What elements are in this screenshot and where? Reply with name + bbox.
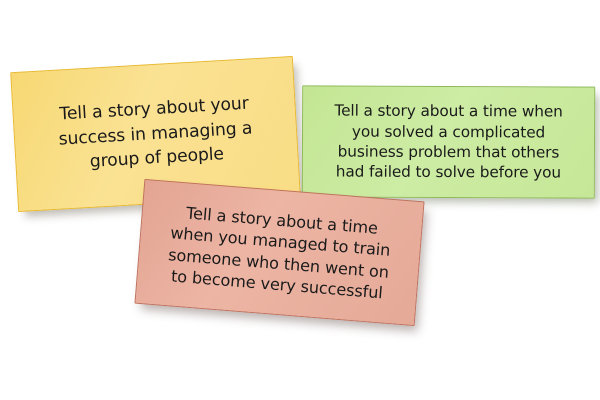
prompt-card-green-text: Tell a story about a time when you solve… [303,100,594,183]
card-stage: Tell a story about your success in manag… [0,0,600,400]
prompt-card-green[interactable]: Tell a story about a time when you solve… [302,85,595,198]
prompt-card-pink-text: Tell a story about a time when you manag… [137,199,422,307]
prompt-card-pink[interactable]: Tell a story about a time when you manag… [134,179,424,326]
prompt-card-yellow-text: Tell a story about your success in manag… [13,89,298,178]
